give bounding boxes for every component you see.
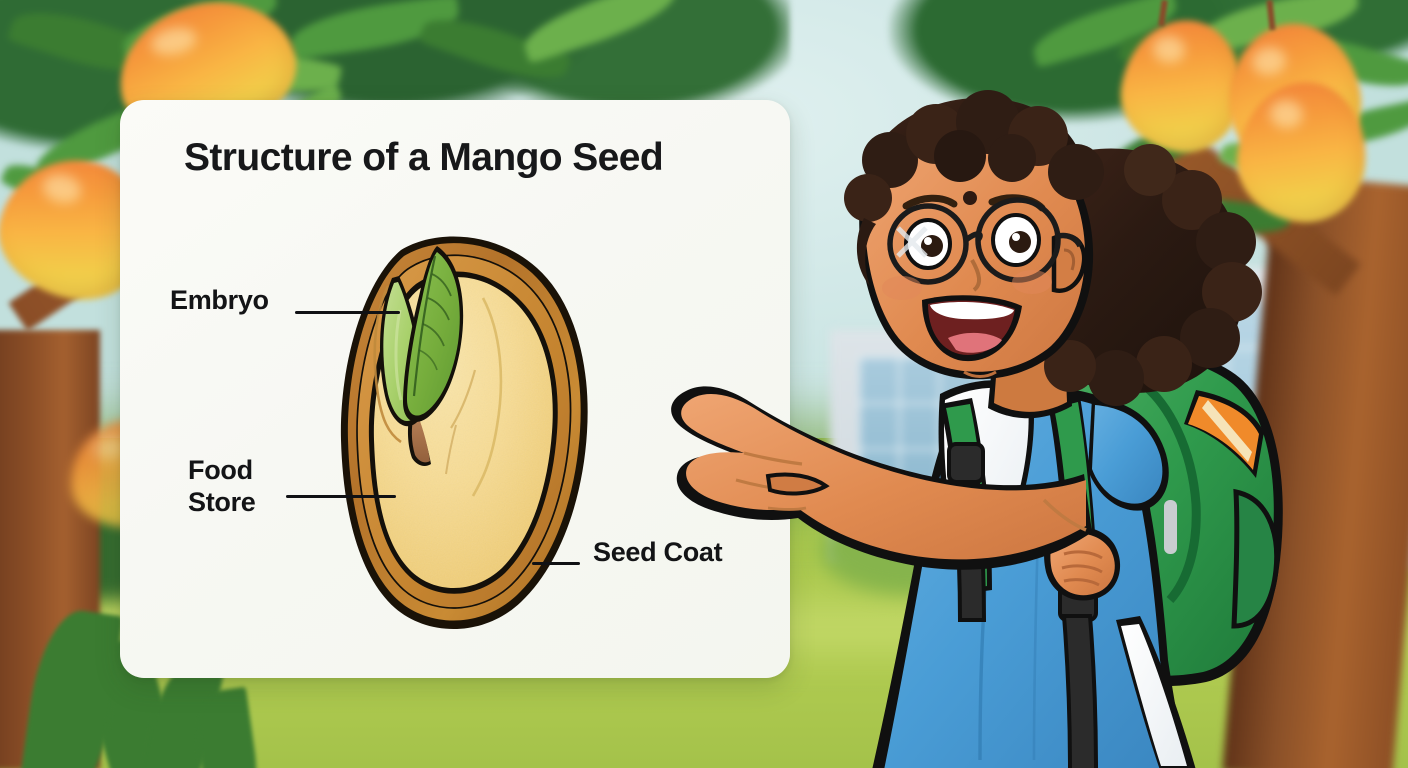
leader-line-seed-coat <box>532 562 580 565</box>
schoolgirl-svg <box>640 60 1340 768</box>
scene: Structure of a Mango Seed <box>0 0 1408 768</box>
seed-cross-section-svg <box>315 220 615 650</box>
hair-curl <box>844 174 892 222</box>
mango-seed-diagram <box>315 220 615 650</box>
eye-glint-right <box>1012 233 1020 241</box>
label-food-store: FoodStore <box>188 455 256 519</box>
knuckle-line <box>768 508 806 510</box>
hair-curl <box>1048 144 1104 200</box>
head <box>844 90 1104 379</box>
cheek-blush-left <box>882 276 922 300</box>
hair-curl <box>1136 336 1192 392</box>
strap-right-webbing <box>1064 616 1096 768</box>
bindi <box>963 191 977 205</box>
label-food-store-line1: Food <box>188 455 253 485</box>
label-embryo: Embryo <box>170 285 269 317</box>
hair-curl <box>988 134 1036 182</box>
page-title: Structure of a Mango Seed <box>184 136 663 180</box>
leader-line-food-store <box>286 495 396 498</box>
pupil-right <box>1009 231 1031 253</box>
hair-curl <box>1088 350 1144 406</box>
cheek-blush-right <box>1012 270 1052 294</box>
strap-buckle-left <box>949 444 983 482</box>
hair-curl <box>934 130 986 182</box>
schoolgirl-character <box>640 60 1340 768</box>
eye-glint-left <box>924 237 932 245</box>
zipper-pull <box>1164 500 1177 554</box>
body <box>872 380 1196 768</box>
label-food-store-line2: Store <box>188 487 256 517</box>
leader-line-embryo <box>295 311 400 314</box>
hair-curl <box>1124 144 1176 196</box>
